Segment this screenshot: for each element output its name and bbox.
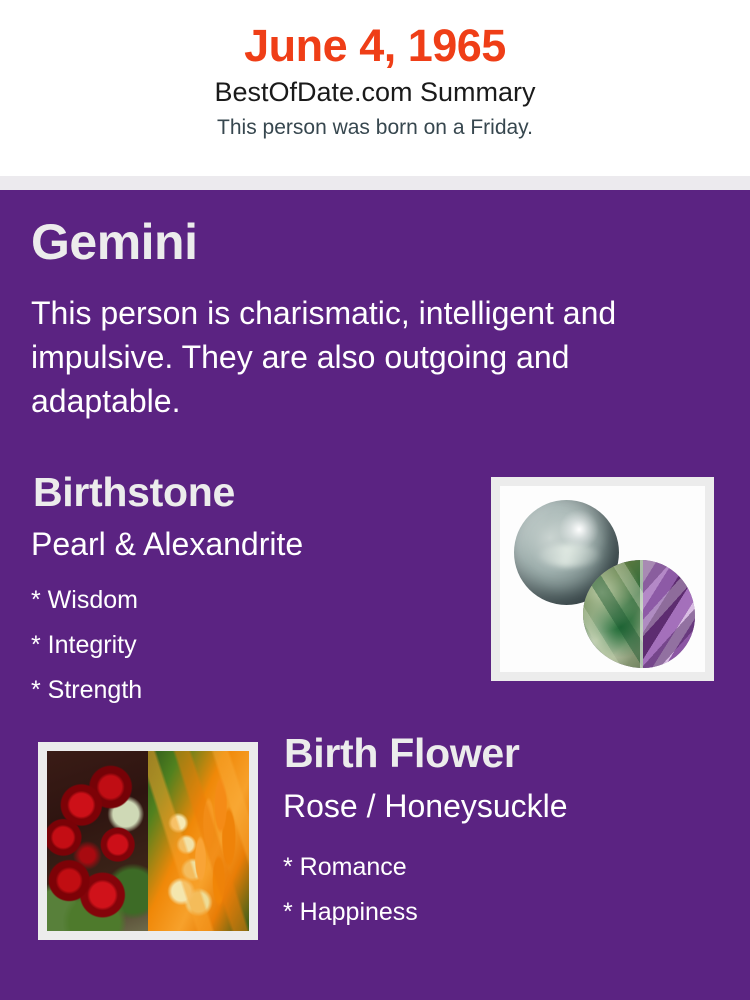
zodiac-sign-description: This person is charismatic, intelligent …: [31, 291, 711, 423]
birthday-summary-page: June 4, 1965 BestOfDate.com Summary This…: [0, 0, 750, 1000]
list-item: * Wisdom: [31, 578, 142, 623]
header-divider: [0, 176, 750, 190]
birthstone-image: [500, 486, 705, 672]
list-item: * Strength: [31, 668, 142, 713]
birth-flower-image: [47, 751, 249, 931]
birth-flower-trait-list: * Romance * Happiness: [283, 845, 418, 935]
honeysuckle-photo-half: [148, 751, 249, 931]
birth-flower-value: Rose / Honeysuckle: [283, 790, 568, 822]
list-item: * Integrity: [31, 623, 142, 668]
day-of-week-note: This person was born on a Friday.: [0, 108, 750, 139]
site-summary-label: BestOfDate.com Summary: [0, 69, 750, 108]
header: June 4, 1965 BestOfDate.com Summary This…: [0, 0, 750, 176]
list-item: * Happiness: [283, 890, 418, 935]
details-panel: Gemini This person is charismatic, intel…: [0, 190, 750, 1000]
gem-faceted-side: [643, 560, 695, 668]
list-item: * Romance: [283, 845, 418, 890]
birth-flower-image-frame: [38, 742, 258, 940]
birthstone-trait-list: * Wisdom * Integrity * Strength: [31, 578, 142, 713]
page-title-date: June 4, 1965: [0, 0, 750, 69]
gem-seam: [640, 560, 643, 668]
zodiac-sign-title: Gemini: [31, 217, 197, 267]
alexandrite-gem-icon: [583, 560, 695, 668]
gem-rough-matrix: [583, 560, 646, 668]
birthstone-value: Pearl & Alexandrite: [31, 528, 303, 560]
birth-flower-title: Birth Flower: [284, 733, 520, 774]
birthstone-title: Birthstone: [33, 472, 235, 513]
rose-photo-half: [47, 751, 148, 931]
birthstone-image-frame: [491, 477, 714, 681]
